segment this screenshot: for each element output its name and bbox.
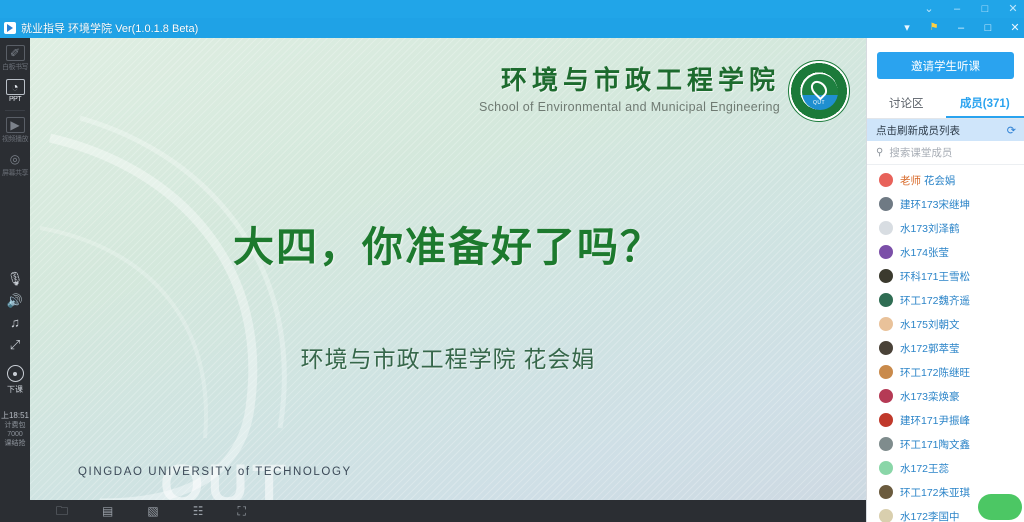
avatar — [879, 389, 893, 403]
slide-footer: QINGDAO UNIVERSITY of TECHNOLOGY — [78, 466, 352, 478]
member-name: 环科171王雪松 — [900, 269, 970, 284]
member-list[interactable]: 老师 花会娟建环173宋继坤水173刘泽鹤水174张莹环科171王雪松环工172… — [867, 165, 1024, 522]
right-sidebar: 邀请学生听课 讨论区 成员(371) 点击刷新成员列表 ⟳ ⚲ ▽ 老师 花会娟… — [866, 38, 1024, 522]
member-list-item[interactable]: 水172王蕊 — [867, 456, 1024, 480]
app-logo-icon — [4, 22, 16, 34]
search-icon: ⚲ — [876, 147, 883, 158]
tool-label: PPT — [9, 96, 21, 103]
search-input[interactable] — [889, 147, 1024, 159]
member-list-item[interactable]: 环科171王雪松 — [867, 264, 1024, 288]
sidebar-tabs: 讨论区 成员(371) — [867, 91, 1024, 119]
avatar — [879, 317, 893, 331]
member-name: 水172郭萃莹 — [900, 341, 960, 356]
microphone-muted-icon[interactable]: 🎙 — [7, 272, 24, 285]
end-class-label: 下课 — [7, 384, 23, 395]
pin-icon[interactable]: ⚑ — [927, 18, 941, 38]
invite-section: 邀请学生听课 — [867, 38, 1024, 91]
slide-stage: 环境与市政工程学院 School of Environmental and Mu… — [30, 38, 866, 500]
member-list-item[interactable]: 建环171尹振峰 — [867, 408, 1024, 432]
member-list-item[interactable]: 水172郭萃莹 — [867, 336, 1024, 360]
avatar — [879, 341, 893, 355]
avatar — [879, 413, 893, 427]
outer-window-bar: ⌄ – □ ✕ — [0, 0, 1024, 18]
member-list-item[interactable]: 环工172陈继旺 — [867, 360, 1024, 384]
window-title: 就业指导 环境学院 Ver(1.0.1.8 Beta) — [21, 20, 198, 36]
toolbar-divider — [5, 110, 25, 111]
left-toolbar-icons: 🎙 🔊 ♫ ⤢ — [7, 272, 24, 351]
close-icon[interactable]: ✕ — [1008, 18, 1022, 38]
tab-members[interactable]: 成员(371) — [946, 91, 1024, 118]
outer-window-controls: ⌄ – □ ✕ — [922, 0, 1020, 18]
expand-icon[interactable]: ⛶ — [237, 505, 245, 517]
tool-label: 屏幕共享 — [2, 168, 28, 178]
member-name: 水174张莹 — [900, 245, 949, 260]
avatar — [879, 461, 893, 475]
avatar — [879, 293, 893, 307]
power-icon — [7, 365, 24, 382]
status-line-2: 7000 — [7, 430, 23, 439]
application-window: ⌄ – □ ✕ 就业指导 环境学院 Ver(1.0.1.8 Beta) ▾ ⚑ … — [0, 0, 1024, 522]
member-name: 建环171尹振峰 — [900, 413, 970, 428]
status-line-1: 计费包 — [5, 421, 26, 430]
member-name: 环工172朱亚琪 — [900, 485, 970, 500]
session-time: 上18:51 — [1, 411, 29, 421]
app-title-bar: 就业指导 环境学院 Ver(1.0.1.8 Beta) ▾ ⚑ – □ ✕ — [0, 18, 1024, 38]
university-logo-icon: QUT — [788, 60, 850, 122]
library-icon[interactable]: ☷ — [193, 505, 204, 517]
member-search-row: ⚲ ▽ — [867, 141, 1024, 165]
member-name: 水172李国中 — [900, 509, 960, 522]
status-line-3: 课结抢 — [5, 439, 26, 448]
document-icon[interactable]: ▤ — [102, 505, 113, 517]
refresh-icon[interactable]: ⟳ — [1007, 124, 1016, 137]
folder-icon[interactable]: 🗀 — [56, 505, 68, 517]
left-toolbar: ✐ 白板书写 ◔ PPT ▶ 视频播放 ◎ 屏幕共享 🎙 🔊 ♫ ⤢ 下课 上1… — [0, 38, 30, 522]
maximize-icon[interactable]: □ — [981, 18, 995, 38]
tool-label: 白板书写 — [2, 62, 28, 72]
member-list-item[interactable]: 水173栾焕豪 — [867, 384, 1024, 408]
tool-whiteboard[interactable]: ✐ 白板书写 — [0, 42, 30, 76]
bottom-toolbar: 🗀 ▤ ▧ ☷ ⛶ — [30, 500, 866, 522]
slide-header: 环境与市政工程学院 School of Environmental and Mu… — [479, 60, 780, 114]
slide-subtitle: 环境与市政工程学院 花会娟 — [30, 340, 866, 374]
presentation-slide[interactable]: 环境与市政工程学院 School of Environmental and Mu… — [30, 38, 866, 500]
member-name: 环工172魏齐遥 — [900, 293, 970, 308]
member-list-item[interactable]: 环工171陶文鑫 — [867, 432, 1024, 456]
member-list-item[interactable]: 建环173宋继坤 — [867, 192, 1024, 216]
maximize-icon[interactable]: □ — [978, 0, 992, 18]
member-name: 水173刘泽鹤 — [900, 221, 960, 236]
member-name: 环工172陈继旺 — [900, 365, 970, 380]
speaker-icon[interactable]: 🔊 — [7, 294, 23, 307]
avatar — [879, 245, 893, 259]
invite-students-button[interactable]: 邀请学生听课 — [877, 52, 1014, 79]
avatar — [879, 485, 893, 499]
member-name: 水175刘朝文 — [900, 317, 960, 332]
member-name: 环工171陶文鑫 — [900, 437, 970, 452]
play-icon: ▶ — [6, 117, 25, 133]
minimize-icon[interactable]: – — [950, 0, 964, 18]
close-icon[interactable]: ✕ — [1006, 0, 1020, 18]
school-name-en: School of Environmental and Municipal En… — [479, 100, 780, 114]
end-class-button[interactable]: 下课 — [7, 365, 24, 395]
floating-action-blob[interactable] — [978, 494, 1022, 520]
avatar — [879, 437, 893, 451]
refresh-member-list-bar[interactable]: 点击刷新成员列表 ⟳ — [867, 119, 1024, 141]
logo-text: QUT — [789, 100, 849, 106]
member-list-item[interactable]: 水174张莹 — [867, 240, 1024, 264]
avatar — [879, 509, 893, 522]
avatar — [879, 365, 893, 379]
refresh-label: 点击刷新成员列表 — [876, 123, 960, 138]
member-list-item[interactable]: 环工172魏齐遥 — [867, 288, 1024, 312]
window-icon[interactable]: ▧ — [147, 505, 158, 517]
fullscreen-icon[interactable]: ⤢ — [10, 338, 20, 351]
tool-ppt[interactable]: ◔ PPT — [0, 76, 30, 107]
avatar — [879, 269, 893, 283]
slide-title: 大四，你准备好了吗？ — [30, 213, 866, 273]
avatar — [879, 197, 893, 211]
member-name: 水172王蕊 — [900, 461, 949, 476]
member-list-item[interactable]: 老师 花会娟 — [867, 168, 1024, 192]
tab-discussion[interactable]: 讨论区 — [867, 91, 946, 118]
member-name: 建环173宋继坤 — [900, 197, 970, 212]
decorative-swoosh — [40, 108, 470, 500]
tool-video[interactable]: ▶ 视频播放 — [0, 114, 30, 148]
tool-label: 视频播放 — [2, 134, 28, 144]
tool-screenshare[interactable]: ◎ 屏幕共享 — [0, 148, 30, 182]
avatar — [879, 173, 893, 187]
member-name: 老师 花会娟 — [900, 173, 955, 188]
member-list-item[interactable]: 水175刘朝文 — [867, 312, 1024, 336]
member-list-item[interactable]: 水173刘泽鹤 — [867, 216, 1024, 240]
chevron-down-icon[interactable]: ▾ — [900, 18, 914, 38]
minimize-icon[interactable]: – — [954, 18, 968, 38]
app-window-controls: ▾ ⚑ – □ ✕ — [900, 18, 1022, 38]
chevron-down-icon[interactable]: ⌄ — [922, 0, 936, 18]
member-name: 水173栾焕豪 — [900, 389, 960, 404]
pen-icon: ✐ — [6, 45, 25, 61]
avatar — [879, 221, 893, 235]
ppt-icon: ◔ — [6, 79, 25, 95]
school-name-cn: 环境与市政工程学院 — [479, 60, 780, 97]
screenshare-icon: ◎ — [6, 151, 25, 167]
music-note-icon[interactable]: ♫ — [10, 316, 20, 329]
